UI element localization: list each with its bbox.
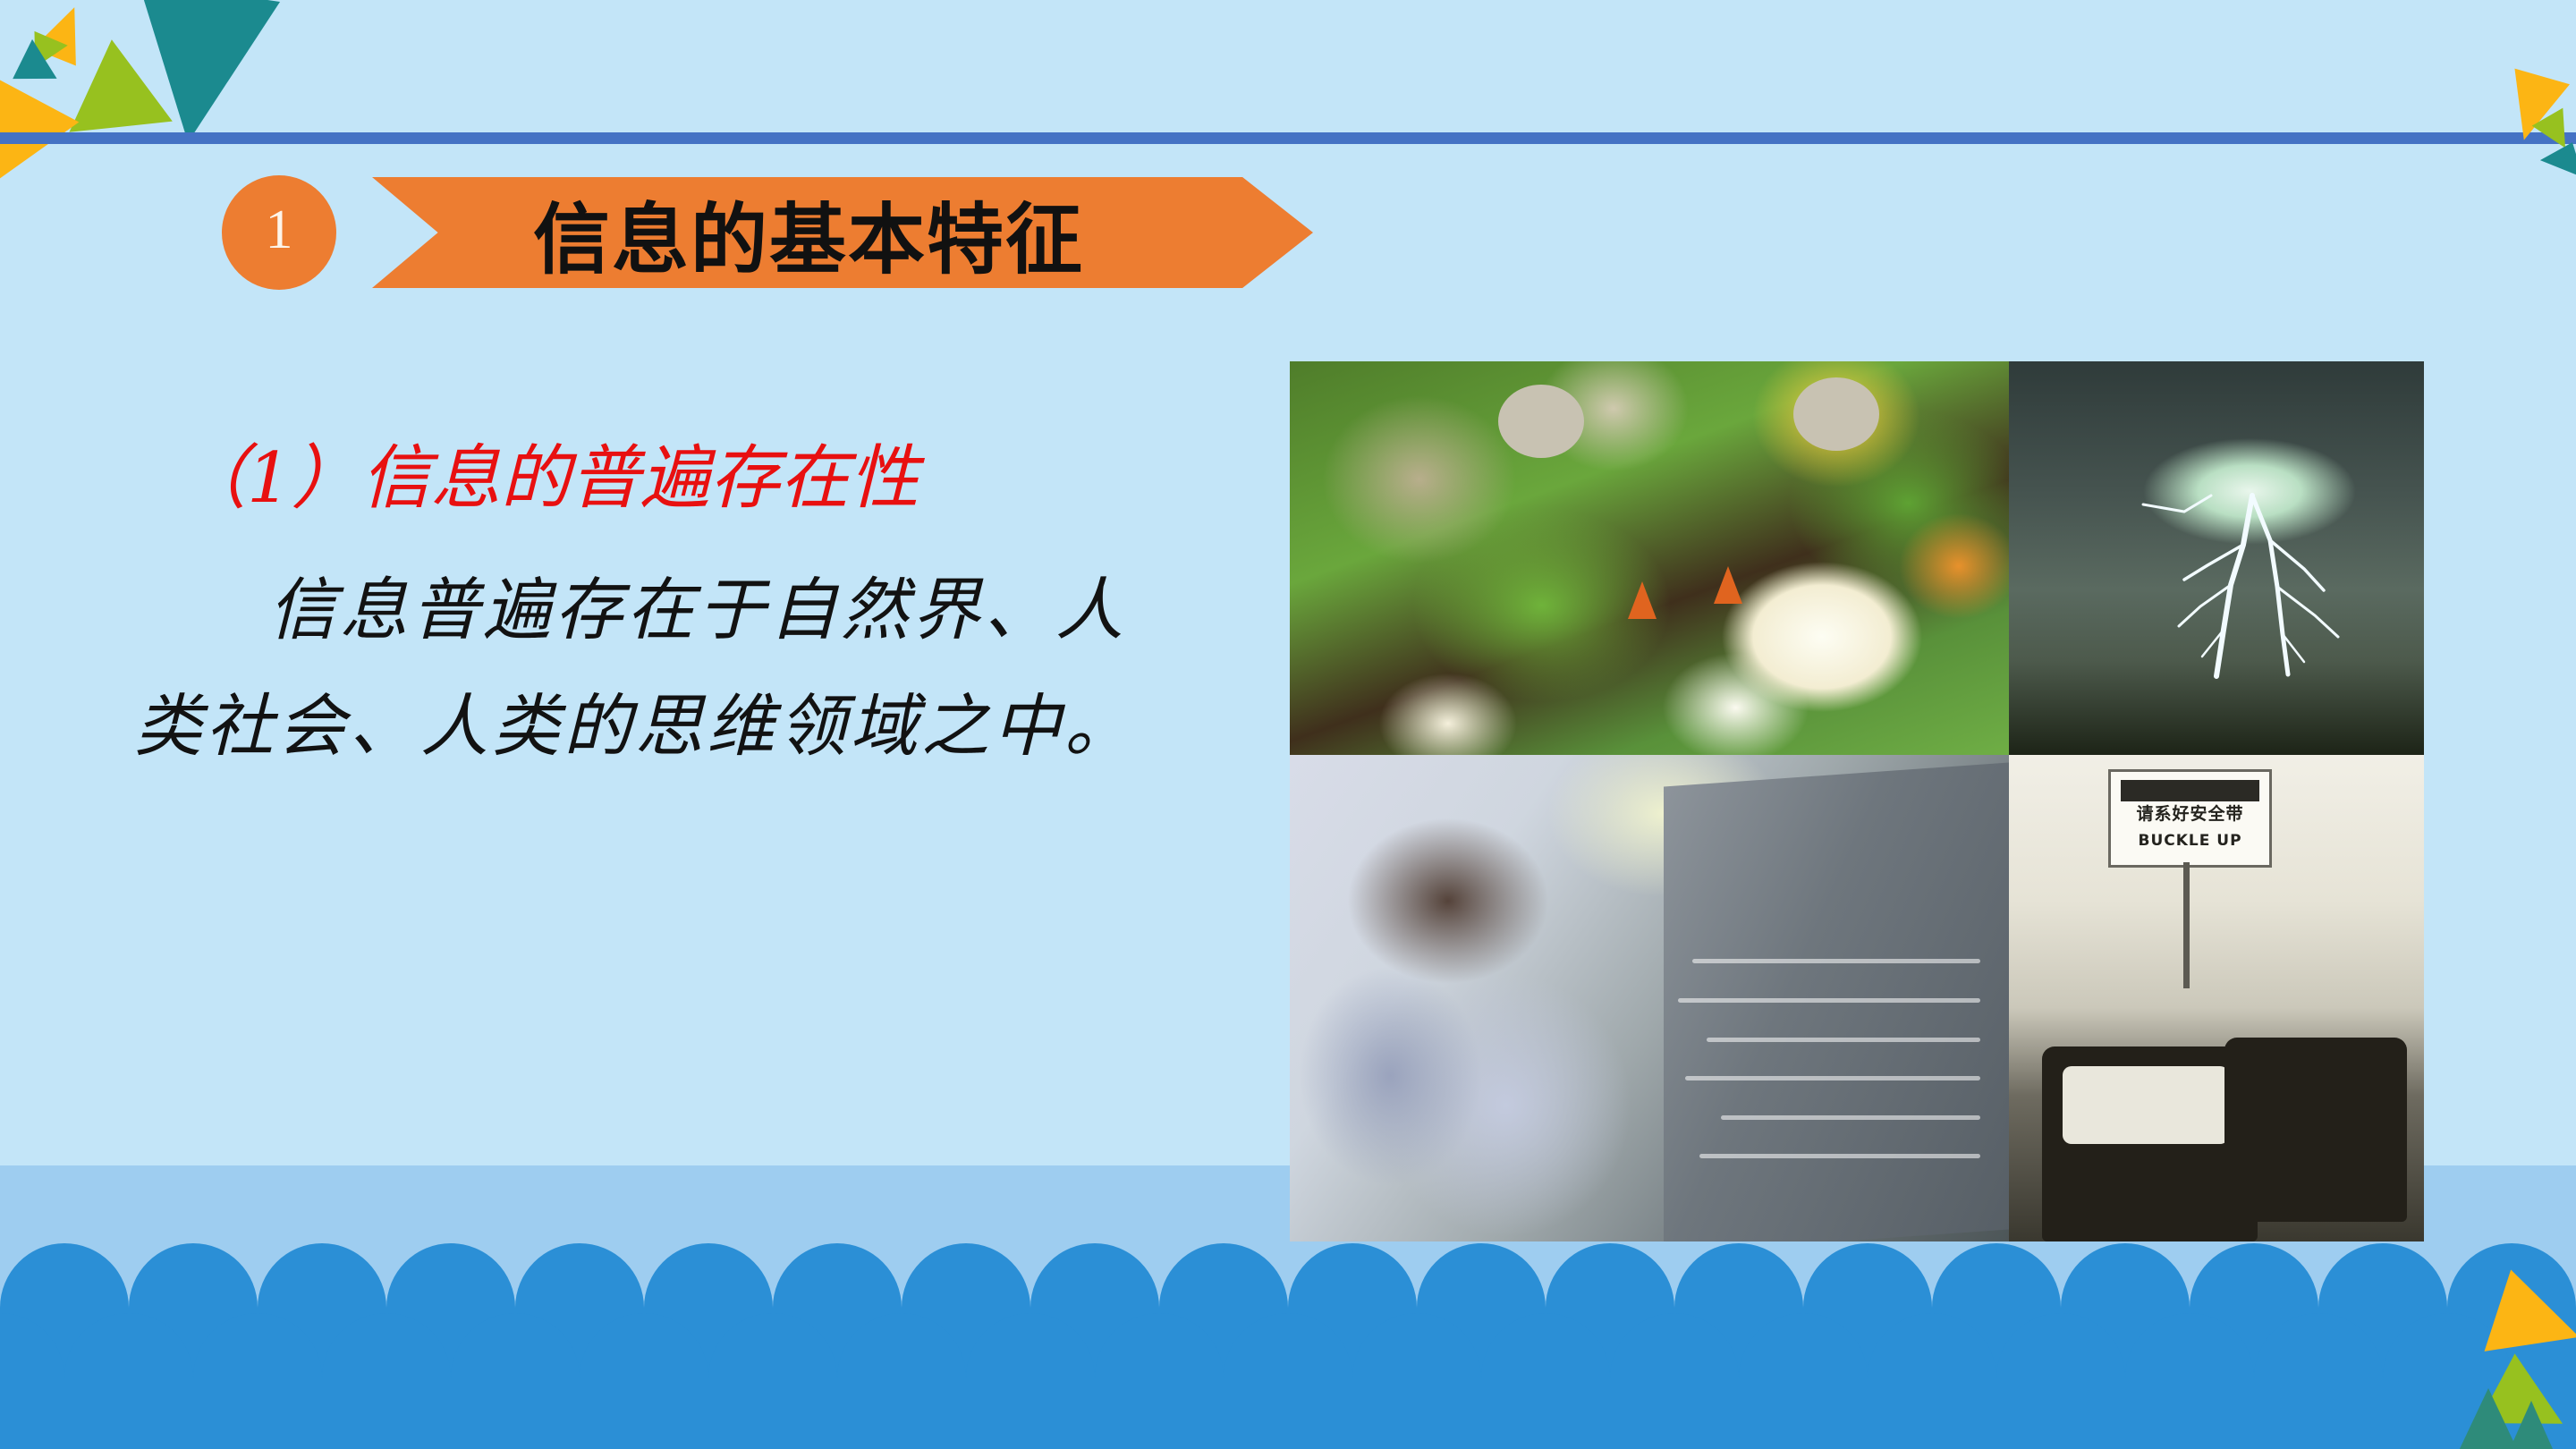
page-title: 信息的基本特征 [533,177,1084,289]
scallop-arch [322,1313,451,1449]
scallop-arch [580,1313,708,1449]
content-body-line-2: 类社会、人类的思维领域之中。 [134,671,1136,769]
triangle-teal-br-small-icon [2510,1401,2553,1449]
chick-beak-right [1714,566,1742,604]
car-windshield [2063,1066,2229,1144]
scallop-arch [708,1313,837,1449]
scallop-arch [1224,1313,1352,1449]
traffic-sign-board: 请系好安全带 BUCKLE UP [2108,769,2271,867]
scallop-arch [64,1313,193,1449]
scallop-arch [1996,1313,2125,1449]
chalk-writing [1707,1038,1980,1042]
sign-text-english: BUCKLE UP [2111,834,2268,849]
scallop-arch [2125,1313,2254,1449]
chick-beak-left [1628,581,1657,619]
photo-lightning-storm [2009,361,2424,755]
photo-collage: 请系好安全带 BUCKLE UP [1290,361,2424,1241]
content-body-line-1: 信息普遍存在于自然界、人 [268,555,1127,653]
bird-head-left [1498,385,1584,458]
bird-head-right [1793,377,1879,451]
scallop-arch [1739,1313,1868,1449]
sign-text-chinese: 请系好安全带 [2111,806,2268,823]
scallop-arch [2254,1313,2383,1449]
photo-birds-feeding-chicks [1290,361,2009,755]
scallop-arch [1481,1313,1610,1449]
section-number-label: 1 [266,202,293,263]
photo-students-writing-blackboard [1290,755,2009,1241]
chalk-writing [1721,1115,1979,1120]
scallop-arch [0,1313,64,1449]
sign-pole [2183,862,2190,988]
scallop-arch [451,1313,580,1449]
chalk-writing [1692,959,1980,963]
scallop-arch [1868,1313,1996,1449]
scallop-arch [1095,1313,1224,1449]
chalk-writing [1685,1076,1980,1080]
slide-canvas: 信息的基本特征 1 （1）信息的普遍存在性 信息普遍存在于自然界、人 类社会、人… [0,0,2576,1449]
title-banner: 信息的基本特征 [372,177,1313,288]
header-rule [0,132,2576,144]
car-rear [2224,1038,2407,1223]
scallop-row-front [0,1313,2576,1449]
lightning-bolt-icon [2009,361,2424,755]
scallop-arch [966,1313,1095,1449]
chalk-writing [1678,998,1980,1003]
scallop-arch [193,1313,322,1449]
chalk-writing [1699,1154,1980,1158]
scallop-arch [1352,1313,1481,1449]
scallop-arch [837,1313,966,1449]
content-subheading: （1）信息的普遍存在性 [177,422,919,522]
sign-top-bar [2121,780,2259,802]
scallop-arch [1610,1313,1739,1449]
section-number-badge: 1 [222,175,336,290]
photo-traffic-sign-buckle-up: 请系好安全带 BUCKLE UP [2009,755,2424,1241]
